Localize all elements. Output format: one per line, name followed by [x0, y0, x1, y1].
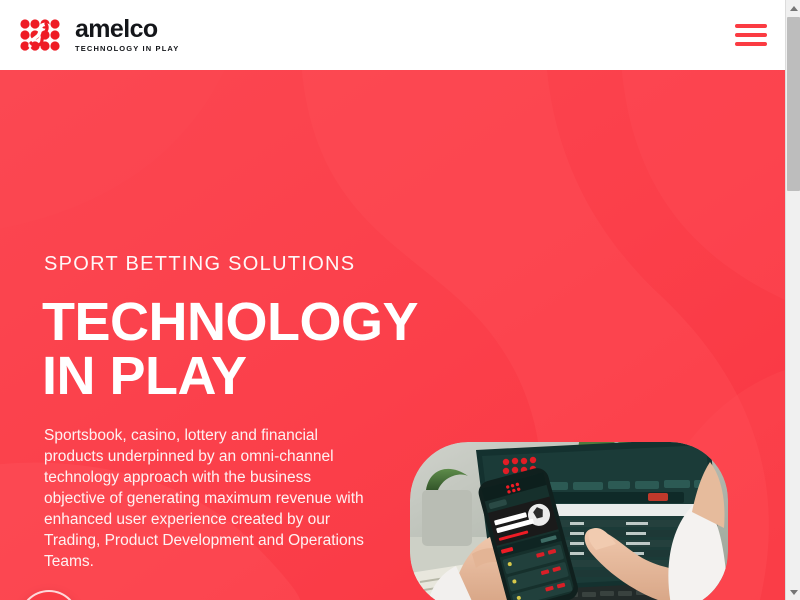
logo-tagline: TECHNOLOGY IN PLAY	[75, 45, 179, 53]
amelco-dots-logo-icon	[20, 19, 66, 51]
menu-bar	[735, 24, 767, 28]
menu-bar	[735, 33, 767, 37]
brand-logo[interactable]: amelco TECHNOLOGY IN PLAY	[20, 17, 179, 53]
hero-media-image	[410, 442, 728, 600]
scroll-up-arrow-icon[interactable]	[786, 0, 800, 16]
site-header: amelco TECHNOLOGY IN PLAY	[0, 0, 785, 70]
hero-eyebrow: SPORT BETTING SOLUTIONS	[44, 253, 355, 276]
page-title: TECHNOLOGY IN PLAY	[42, 295, 442, 403]
scroll-down-arrow-icon[interactable]	[786, 584, 800, 600]
scrollbar-thumb[interactable]	[787, 17, 800, 191]
betting-app-photo	[410, 442, 728, 600]
hero-title-line-2: IN PLAY	[42, 346, 247, 406]
hero-section: SPORT BETTING SOLUTIONS TECHNOLOGY IN PL…	[0, 70, 785, 600]
browser-viewport: amelco TECHNOLOGY IN PLAY	[0, 0, 785, 600]
menu-bar	[735, 42, 767, 46]
vertical-scrollbar[interactable]	[785, 0, 800, 600]
hamburger-menu-icon[interactable]	[733, 20, 769, 50]
logo-wordmark: amelco TECHNOLOGY IN PLAY	[75, 17, 179, 53]
hero-title-line-1: TECHNOLOGY	[42, 292, 418, 352]
hero-description: Sportsbook, casino, lottery and financia…	[44, 425, 374, 572]
arrow-glyph	[790, 590, 798, 595]
arrow-glyph	[790, 6, 798, 11]
logo-name: amelco	[75, 17, 179, 42]
